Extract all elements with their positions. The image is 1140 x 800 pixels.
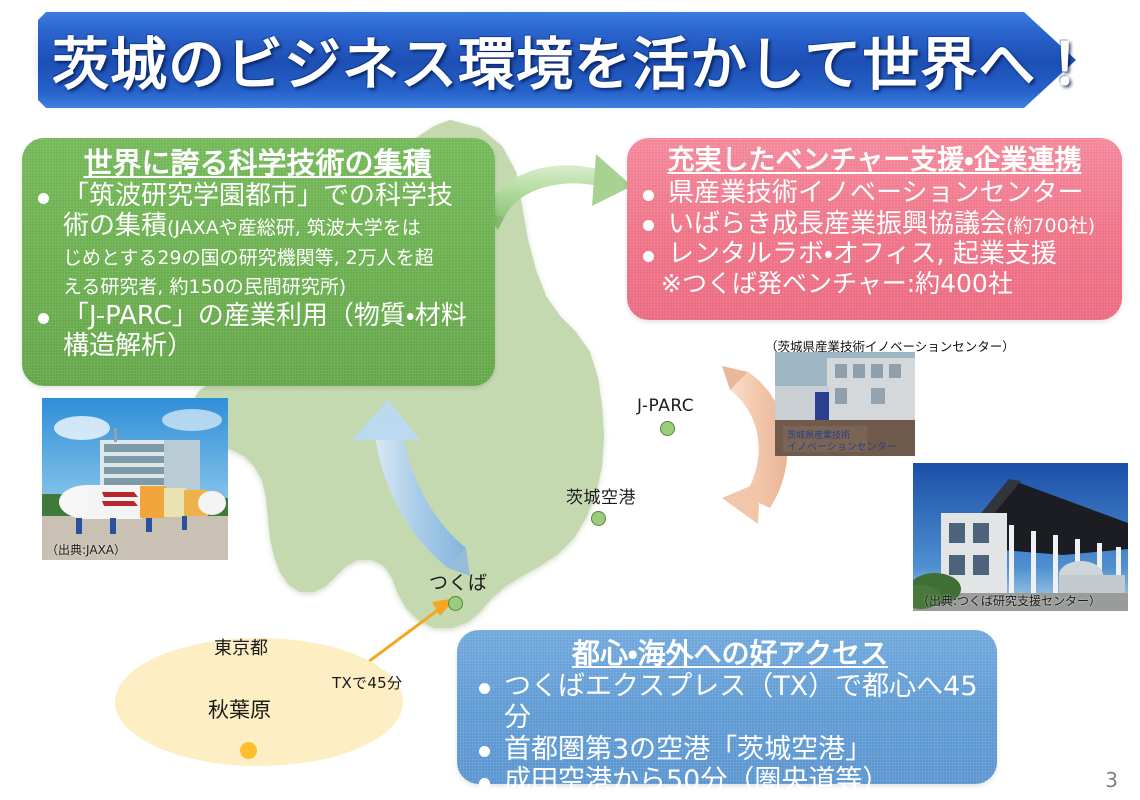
map-dot-akihabara xyxy=(240,742,257,759)
box-venture-title: 充実したベンチャー支援・企業連携 xyxy=(637,145,1112,178)
page-number: 3 xyxy=(1105,768,1118,792)
science-bullet1-small2: じめとする29の国の研究機関等, 2万人を超 xyxy=(63,247,434,269)
bullet-dot-icon xyxy=(479,683,490,694)
box-venture-list: 県産業技術イノベーションセンター いばらき成長産業振興協議会(約700社) レン… xyxy=(637,179,1112,270)
venture-bullet1: 県産業技術イノベーションセンター xyxy=(668,178,1083,208)
list-item: 首都圏第3の空港「茨城空港」 xyxy=(473,735,987,766)
bullet-dot-icon xyxy=(643,251,654,262)
venture-bullet2: いばらき成長産業振興協議会 xyxy=(668,209,1006,239)
map-label-tsukuba: つくば xyxy=(429,568,488,595)
map-label-ibaraki-airport: 茨城空港 xyxy=(566,483,636,508)
list-item: いばらき成長産業振興協議会(約700社) xyxy=(637,210,1112,240)
access-bullet-2: 成田空港から50分（圏央道等） xyxy=(504,765,889,796)
science-bullet2-line1: 「J-PARC」の産業利用（物質・材料 xyxy=(63,301,467,331)
map-label-jparc: J-PARC xyxy=(637,396,694,416)
science-bullet2-line2: 構造解析） xyxy=(63,331,193,361)
bullet-dot-icon xyxy=(479,778,490,789)
slide-canvas: 茨城のビジネス環境を活かして世界へ！ 世界に誇る科学技術の集積 「筑波研究学園都… xyxy=(0,0,1140,800)
bullet-dot-icon xyxy=(38,313,49,324)
list-item: レンタルラボ・オフィス, 起業支援 xyxy=(637,240,1112,270)
blue-arrow xyxy=(352,400,470,576)
svg-text:イノベーションセンター: イノベーションセンター xyxy=(787,441,897,453)
science-bullet1-small3: える研究者, 約150の民間研究所) xyxy=(63,276,346,298)
bullet-dot-icon xyxy=(479,746,490,757)
green-arrow xyxy=(478,154,632,230)
photo-jaxa-rocket: （出典:JAXA） xyxy=(42,398,228,560)
list-item: つくばエクスプレス（TX）で都心へ45分 xyxy=(473,672,987,734)
list-item: 県産業技術イノベーションセンター xyxy=(637,179,1112,209)
list-item: 「J-PARC」の産業利用（物質・材料 構造解析） xyxy=(32,302,483,361)
list-item: 「筑波研究学園都市」での科学技 術の集積(JAXAや産総研, 筑波大学をは じめ… xyxy=(32,182,483,301)
box-venture-support: 充実したベンチャー支援・企業連携 県産業技術イノベーションセンター いばらき成長… xyxy=(627,138,1122,320)
box-science-accumulation: 世界に誇る科学技術の集積 「筑波研究学園都市」での科学技 術の集積(JAXAや産… xyxy=(22,138,495,386)
label-tokyo: 東京都 xyxy=(214,634,268,660)
venture-bullet2-small: (約700社) xyxy=(1006,215,1095,237)
bullet-dot-icon xyxy=(643,220,654,231)
venture-bullet3: レンタルラボ・オフィス, 起業支援 xyxy=(668,239,1057,269)
svg-text:茨城県産業技術: 茨城県産業技術 xyxy=(787,429,850,440)
photo-tsukuba-center: （出典:つくば研究支援センター） xyxy=(913,463,1128,611)
box-science-list: 「筑波研究学園都市」での科学技 術の集積(JAXAや産総研, 筑波大学をは じめ… xyxy=(32,182,483,361)
box-access-list: つくばエクスプレス（TX）で都心へ45分 首都圏第3の空港「茨城空港」 成田空港… xyxy=(473,672,987,797)
box-access: 都心・海外への好アクセス つくばエクスプレス（TX）で都心へ45分 首都圏第3の… xyxy=(457,630,997,784)
map-dot-jparc xyxy=(660,421,675,436)
bullet-dot-icon xyxy=(38,193,49,204)
bullet-dot-icon xyxy=(643,190,654,201)
page-title: 茨城のビジネス環境を活かして世界へ！ xyxy=(38,12,998,108)
label-tx-time: TXで45分 xyxy=(332,672,402,693)
box-access-title: 都心・海外への好アクセス xyxy=(473,637,987,671)
map-dot-ibaraki-airport xyxy=(591,511,606,526)
science-bullet1-small1: (JAXAや産総研, 筑波大学をは xyxy=(167,217,421,239)
access-bullet-0: つくばエクスプレス（TX）で都心へ45分 xyxy=(504,671,978,733)
photo-jaxa-caption: （出典:JAXA） xyxy=(46,541,126,558)
list-item: 成田空港から50分（圏央道等） xyxy=(473,766,987,797)
science-bullet1-line2: 術の集積 xyxy=(63,211,167,241)
photo-innovation-center: 茨城県産業技術 イノベーションセンター xyxy=(775,352,915,456)
label-akihabara: 秋葉原 xyxy=(208,694,271,724)
photo-tsukuba-caption: （出典:つくば研究支援センター） xyxy=(917,592,1101,609)
map-dot-tsukuba xyxy=(448,596,463,611)
science-bullet1-line1: 「筑波研究学園都市」での科学技 xyxy=(63,181,453,211)
box-science-title: 世界に誇る科学技術の集積 xyxy=(32,146,483,181)
access-bullet-1: 首都圏第3の空港「茨城空港」 xyxy=(504,734,872,765)
venture-note: ※つくば発ベンチャー:約400社 xyxy=(637,270,1112,299)
